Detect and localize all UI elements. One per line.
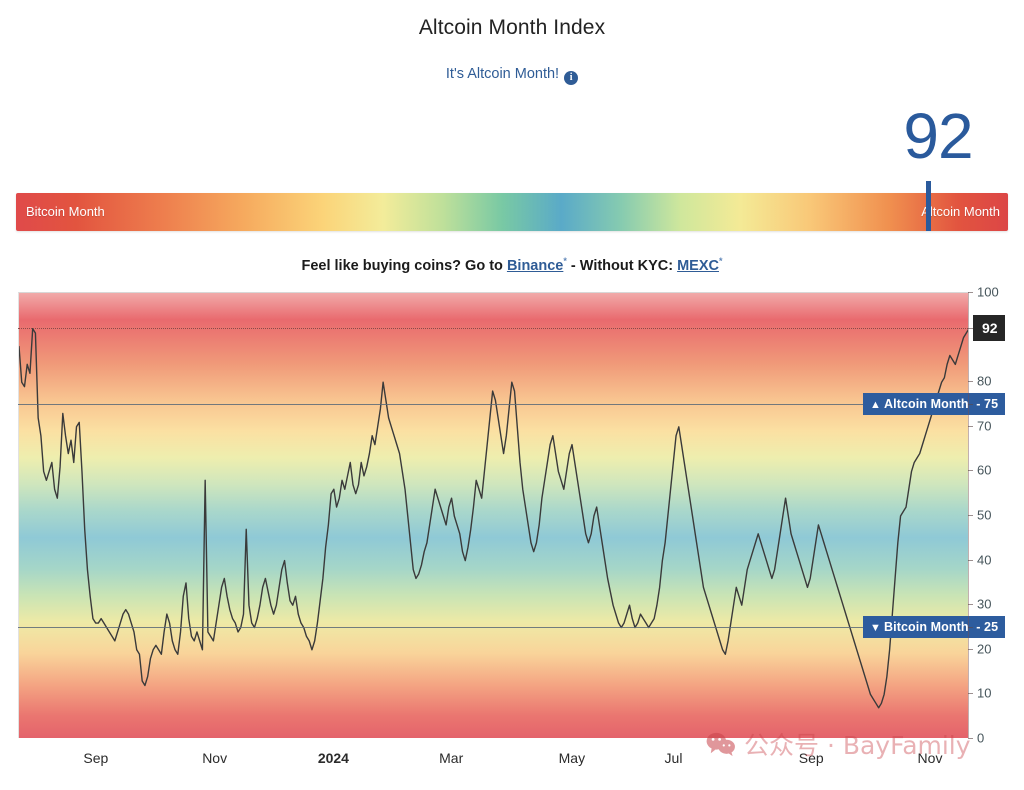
y-tick-label-80: 80 xyxy=(977,374,991,389)
y-axis: 01020304050607080100 xyxy=(968,292,1008,738)
page-title: Altcoin Month Index xyxy=(0,16,1024,40)
y-tick-40 xyxy=(968,560,973,561)
gauge: Bitcoin Month Altcoin Month xyxy=(16,193,1008,231)
subtitle-link[interactable]: It's Altcoin Month! xyxy=(446,66,559,82)
threshold-arrow-altcoin-month: ▲ xyxy=(870,399,881,411)
promo-middle: - Without KYC: xyxy=(567,258,677,274)
altcoin-month-index-page: Altcoin Month Index It's Altcoin Month!i… xyxy=(0,0,1024,790)
threshold-label-bitcoin-month: Bitcoin Month xyxy=(884,620,969,634)
y-tick-30 xyxy=(968,604,973,605)
threshold-label-altcoin-month: Altcoin Month xyxy=(884,397,969,411)
threshold-arrow-bitcoin-month: ▼ xyxy=(870,622,881,634)
info-icon[interactable]: i xyxy=(564,71,578,85)
y-tick-0 xyxy=(968,738,973,739)
binance-link[interactable]: Binance xyxy=(507,258,563,274)
y-tick-80 xyxy=(968,381,973,382)
index-value-display: 92 xyxy=(860,104,1016,168)
gauge-bar xyxy=(16,193,1008,231)
y-tick-75 xyxy=(968,404,973,405)
gauge-marker xyxy=(926,181,931,231)
x-tick-label-nov: Nov xyxy=(918,750,943,766)
y-tick-50 xyxy=(968,515,973,516)
x-tick-label-2024: 2024 xyxy=(318,750,349,766)
x-tick-label-may: May xyxy=(559,750,585,766)
y-tick-25 xyxy=(968,627,973,628)
y-tick-92 xyxy=(968,328,973,329)
y-tick-label-0: 0 xyxy=(977,731,984,746)
mexc-link[interactable]: MEXC xyxy=(677,258,719,274)
y-tick-100 xyxy=(968,292,973,293)
y-tick-label-40: 40 xyxy=(977,552,991,567)
x-axis-labels: SepNov2024MarMayJulSepNov xyxy=(18,742,968,782)
y-tick-70 xyxy=(968,426,973,427)
threshold-line-bitcoin-month xyxy=(18,627,968,628)
y-tick-label-20: 20 xyxy=(977,641,991,656)
y-tick-label-70: 70 xyxy=(977,418,991,433)
y-tick-label-10: 10 xyxy=(977,686,991,701)
gauge-label-altcoin-month: Altcoin Month xyxy=(921,204,1000,219)
y-tick-60 xyxy=(968,470,973,471)
gauge-label-bitcoin-month: Bitcoin Month xyxy=(26,204,105,219)
y-tick-label-30: 30 xyxy=(977,597,991,612)
x-tick-label-mar: Mar xyxy=(439,750,463,766)
x-tick-label-sep: Sep xyxy=(83,750,108,766)
threshold-line-altcoin-month xyxy=(18,404,968,405)
x-tick-label-nov: Nov xyxy=(202,750,227,766)
y-tick-label-50: 50 xyxy=(977,508,991,523)
chart-plot-area[interactable]: BLOCKCHAIN CENTER.NET xyxy=(18,292,968,738)
y-tick-20 xyxy=(968,649,973,650)
index-line-series xyxy=(19,293,968,738)
x-tick-label-sep: Sep xyxy=(799,750,824,766)
current-value-line xyxy=(18,328,968,329)
subtitle-row: It's Altcoin Month!i xyxy=(0,66,1024,85)
y-tick-label-60: 60 xyxy=(977,463,991,478)
y-tick-label-100: 100 xyxy=(977,285,999,300)
x-tick-label-jul: Jul xyxy=(665,750,683,766)
promo-prefix: Feel like buying coins? Go to xyxy=(301,258,506,274)
mexc-asterisk: * xyxy=(719,256,723,266)
promo-line: Feel like buying coins? Go to Binance* -… xyxy=(0,256,1024,274)
y-tick-10 xyxy=(968,693,973,694)
chart: BLOCKCHAIN CENTER.NET ▲Altcoin Month - 7… xyxy=(18,292,1008,738)
